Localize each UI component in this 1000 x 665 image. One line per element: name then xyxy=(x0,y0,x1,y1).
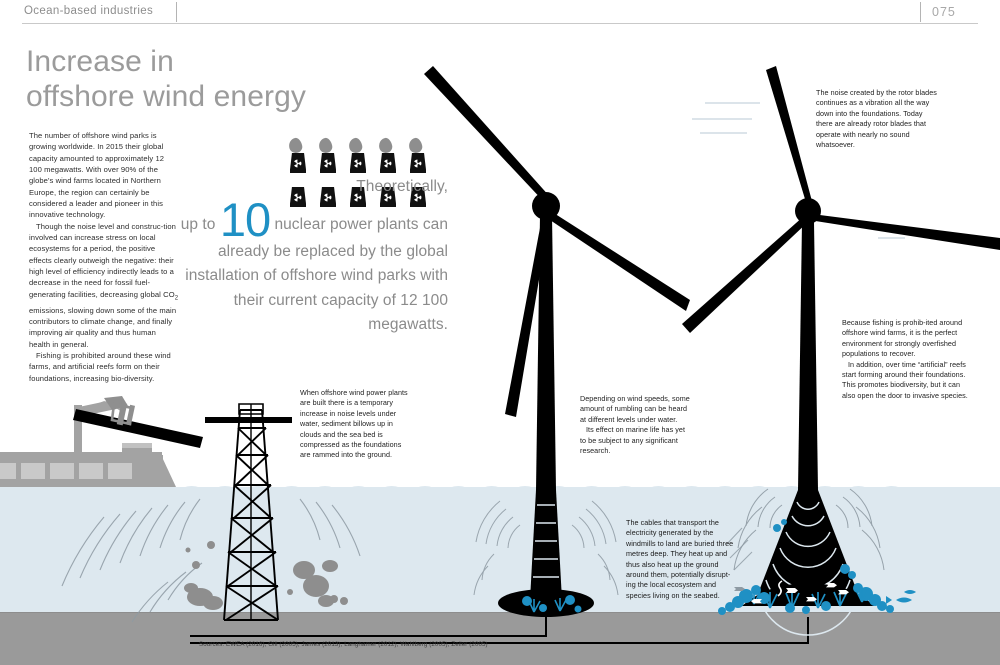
page-title-line2: offshore wind energy xyxy=(26,80,306,113)
nuclear-power-plant-icon xyxy=(318,150,338,173)
page-title: Increase in offshore wind energy xyxy=(26,44,366,114)
nuclear-power-plant-icon xyxy=(408,150,428,173)
annotation-rotor-noise-text: The noise created by the rotor blades co… xyxy=(816,88,938,150)
page-header: Ocean-based industries 075 xyxy=(0,0,1000,24)
annotation-rumbling-p1: Depending on wind speeds, some amount of… xyxy=(580,394,690,425)
body-paragraph-2-text: Though the noise level and construc-tion… xyxy=(29,222,178,349)
page-number: 075 xyxy=(932,5,956,19)
section-kicker: Ocean-based industries xyxy=(24,5,153,17)
intro-body-copy: The number of offshore wind parks is gro… xyxy=(29,130,179,384)
body-paragraph-3: Fishing is prohibited around these wind … xyxy=(29,350,179,384)
nuclear-power-plant-icon xyxy=(378,150,398,173)
lattice-pile-driving-tower xyxy=(205,404,292,620)
annotation-rumbling: Depending on wind speeds, some amount of… xyxy=(580,394,690,456)
callout-lead-line1: Theoretically, xyxy=(356,178,448,195)
body-paragraph-2: Though the noise level and construc-tion… xyxy=(29,221,179,350)
annotation-construction-noise: When offshore wind power plants are buil… xyxy=(300,388,410,461)
page-title-line1: Increase in xyxy=(26,45,174,78)
nuclear-power-plant-icon xyxy=(288,150,308,173)
header-divider xyxy=(176,2,177,22)
sources-line: Sources: EWEA (2016), Gill (2005), James… xyxy=(199,641,488,648)
construction-vessel xyxy=(0,396,203,487)
infographic-page: Ocean-based industries 075 Increase in o… xyxy=(0,0,1000,665)
header-rule xyxy=(22,23,978,24)
annotation-rumbling-p2: Its effect on marine life has yet to be … xyxy=(580,425,690,456)
annotation-fishing-reefs: Because fishing is prohib-ited around of… xyxy=(842,318,970,401)
annotation-rotor-noise: The noise created by the rotor blades co… xyxy=(816,88,938,150)
seabed-cables xyxy=(190,617,808,643)
annotation-cables-text: The cables that transport the electricit… xyxy=(626,518,734,601)
annotation-cables: The cables that transport the electricit… xyxy=(626,518,734,601)
annotation-fishing-reefs-p2: In addition, over time “artificial” reef… xyxy=(842,360,970,402)
nuclear-power-plant-icon xyxy=(348,150,368,173)
callout-big-number: 10 xyxy=(220,193,270,246)
annotation-construction-noise-text: When offshore wind power plants are buil… xyxy=(300,388,410,461)
annotation-fishing-reefs-p1: Because fishing is prohib-ited around of… xyxy=(842,318,970,360)
header-divider-right xyxy=(920,2,921,22)
headline-callout: Theoretically, up to 10 nuclear power pl… xyxy=(176,175,448,338)
body-paragraph-1: The number of offshore wind parks is gro… xyxy=(29,130,179,221)
callout-lead-line2: up to xyxy=(181,216,216,233)
